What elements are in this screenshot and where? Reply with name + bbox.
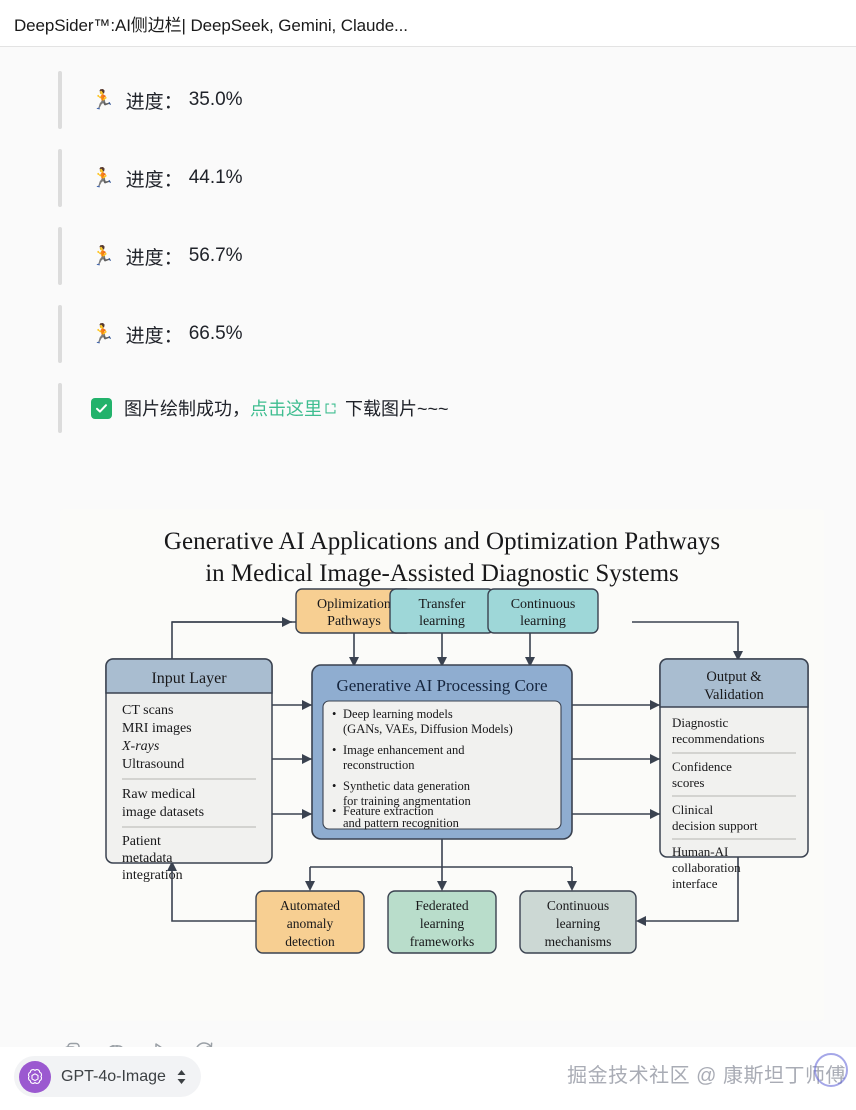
- output-item: decision support: [672, 818, 758, 833]
- output-item: Clinical: [672, 802, 714, 817]
- chat-scroll-area[interactable]: 🏃 进度： 35.0% 🏃 进度： 44.1% 🏃 进度： 56.7% 🏃 进度…: [0, 47, 856, 1047]
- core-header: Generative AI Processing Core: [336, 676, 547, 695]
- diagram-title-line1: Generative AI Applications and Optimizat…: [164, 528, 720, 555]
- input-layer-item: Raw medical: [122, 787, 196, 802]
- generated-image-card[interactable]: Generative AI Applications and Optimizat…: [60, 509, 824, 1021]
- top-box-continuous-learning: Continuous learning: [488, 589, 598, 633]
- top-box-label: Oplimization: [317, 597, 391, 612]
- status-message: 图片绘制成功， 点击这里 下载图片~~~: [58, 373, 856, 443]
- top-box-transfer-learning: Transfer learning: [390, 589, 494, 633]
- top-box-label: learning: [520, 614, 566, 629]
- check-icon: [91, 398, 112, 419]
- top-box-label: Transfer: [419, 597, 466, 612]
- progress-message: 🏃 进度： 56.7%: [58, 217, 856, 295]
- core-bullet-marker: •: [332, 804, 336, 818]
- input-layer-item: Ultrasound: [122, 757, 184, 772]
- output-item: Human-AI: [672, 844, 728, 859]
- progress-label: 进度：: [126, 87, 183, 114]
- output-item: scores: [672, 775, 705, 790]
- runner-icon: 🏃: [91, 91, 115, 110]
- top-box-label: Continuous: [511, 597, 576, 612]
- page-title: DeepSider™:AI侧边栏| DeepSeek, Gemini, Clau…: [14, 11, 408, 36]
- output-header: Output &: [706, 669, 762, 685]
- input-layer-header: Input Layer: [151, 670, 227, 687]
- bottom-box-line: learning: [556, 916, 600, 931]
- input-layer-item: CT scans: [122, 703, 173, 718]
- status-text-row: 图片绘制成功， 点击这里 下载图片~~~: [124, 395, 449, 421]
- bottom-box-line: Federated: [415, 898, 468, 913]
- progress-value: 56.7%: [189, 245, 243, 267]
- openai-logo-icon: [19, 1061, 51, 1093]
- output-item: recommendations: [672, 731, 764, 746]
- core-bullet-line: Synthetic data generation: [343, 779, 471, 793]
- bottom-box-line: learning: [420, 916, 464, 931]
- core-bullet-marker: •: [332, 707, 336, 721]
- input-layer-item: image datasets: [122, 805, 204, 820]
- progress-value: 66.5%: [189, 323, 243, 345]
- watermark-logo-icon: [814, 1053, 848, 1087]
- app-header: DeepSider™:AI侧边栏| DeepSeek, Gemini, Clau…: [0, 0, 856, 47]
- external-link-icon: [324, 402, 337, 415]
- bottom-box-automated-anomaly-detection: Automated anomaly detection: [256, 891, 364, 953]
- download-link[interactable]: 点击这里: [250, 395, 337, 421]
- model-selector[interactable]: GPT-4o-Image: [14, 1056, 201, 1097]
- progress-value: 35.0%: [189, 89, 243, 111]
- diagram-image: Generative AI Applications and Optimizat…: [60, 509, 824, 1021]
- core-bullet-line: (GANs, VAEs, Diffusion Models): [343, 722, 513, 736]
- core-bullet-marker: •: [332, 779, 336, 793]
- progress-value: 44.1%: [189, 167, 243, 189]
- bottom-box-line: Automated: [280, 898, 340, 913]
- model-name-label: GPT-4o-Image: [61, 1068, 166, 1086]
- bottom-box-line: mechanisms: [545, 934, 612, 949]
- download-link-label: 点击这里: [250, 395, 322, 421]
- output-header: Validation: [704, 687, 764, 703]
- output-validation-box: Output & Validation Diagnostic recommend…: [660, 659, 808, 891]
- core-bullet-line: reconstruction: [343, 758, 415, 772]
- progress-message: 🏃 进度： 44.1%: [58, 139, 856, 217]
- output-item: Confidence: [672, 759, 732, 774]
- bottom-bar: GPT-4o-Image 掘金技术社区 @ 康斯坦丁师傅: [0, 1047, 856, 1110]
- core-bullet-line: Deep learning models: [343, 707, 453, 721]
- top-box-label: Pathways: [327, 614, 381, 629]
- progress-message: 🏃 进度： 35.0%: [58, 61, 856, 139]
- input-layer-item: MRI images: [122, 721, 192, 736]
- progress-label: 进度：: [126, 321, 183, 348]
- bottom-box-federated-learning-frameworks: Federated learning frameworks: [388, 891, 496, 953]
- diagram-title-line2: in Medical Image-Assisted Diagnostic Sys…: [205, 560, 679, 587]
- chevron-updown-icon: [176, 1069, 187, 1085]
- top-box-label: learning: [419, 614, 465, 629]
- runner-icon: 🏃: [91, 247, 115, 266]
- input-layer-box: Input Layer CT scans MRI images X-rays U…: [106, 659, 272, 883]
- bottom-box-line: frameworks: [410, 934, 474, 949]
- bottom-box-line: Continuous: [547, 898, 609, 913]
- bottom-box-line: detection: [285, 934, 335, 949]
- input-layer-item: metadata: [122, 851, 173, 866]
- core-bullet-line: and pattern recognition: [343, 816, 460, 830]
- progress-label: 进度：: [126, 165, 183, 192]
- output-item: interface: [672, 876, 718, 891]
- input-layer-item: integration: [122, 868, 183, 883]
- generative-ai-core-box: Generative AI Processing Core • Deep lea…: [312, 665, 572, 839]
- input-layer-item: Patient: [122, 834, 161, 849]
- status-suffix: 下载图片~~~: [345, 395, 449, 421]
- status-prefix: 图片绘制成功，: [124, 395, 250, 421]
- watermark-text: 掘金技术社区 @ 康斯坦丁师傅: [567, 1059, 846, 1088]
- output-item: Diagnostic: [672, 715, 729, 730]
- bottom-box-line: anomaly: [287, 916, 334, 931]
- bottom-box-continuous-learning-mechanisms: Continuous learning mechanisms: [520, 891, 636, 953]
- core-bullet-marker: •: [332, 743, 336, 757]
- runner-icon: 🏃: [91, 325, 115, 344]
- runner-icon: 🏃: [91, 169, 115, 188]
- input-layer-item: X-rays: [121, 739, 160, 754]
- core-bullet-line: Image enhancement and: [343, 743, 465, 757]
- output-item: collaboration: [672, 860, 741, 875]
- progress-label: 进度：: [126, 243, 183, 270]
- progress-message: 🏃 进度： 66.5%: [58, 295, 856, 373]
